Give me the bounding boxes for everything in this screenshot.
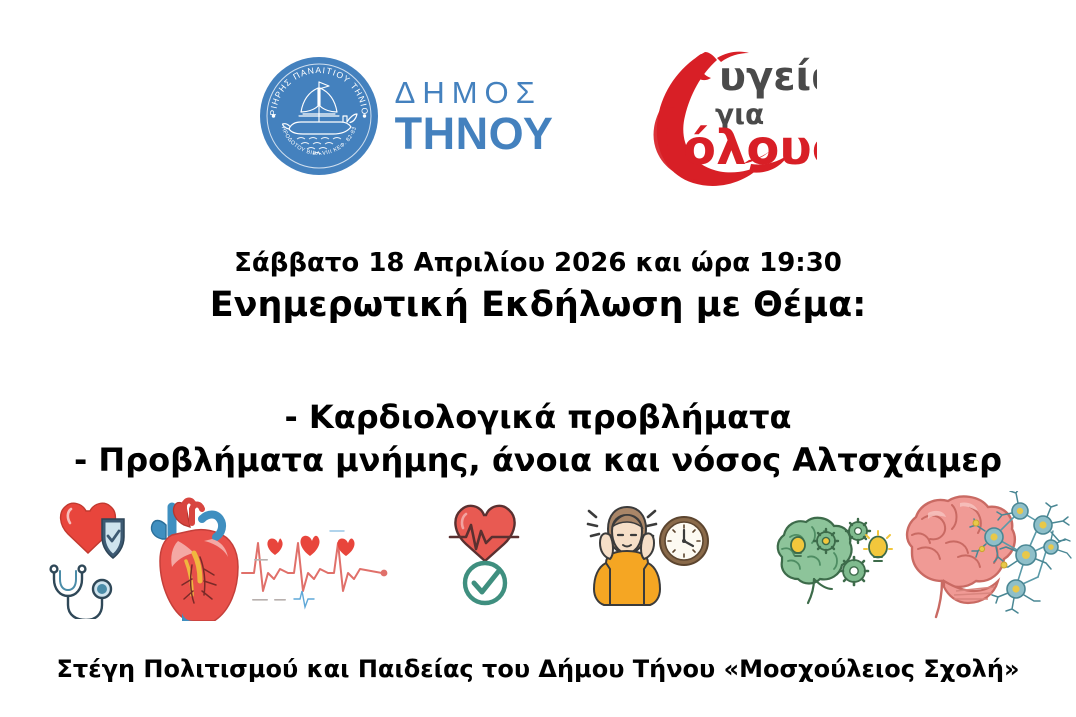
lightbulb-icon bbox=[864, 531, 892, 561]
event-datetime: Σάββατο 18 Απριλίου 2026 και ώρα 19:30 bbox=[0, 248, 1076, 278]
green-brain bbox=[778, 518, 852, 603]
ecg-tick-labels bbox=[252, 559, 286, 601]
blue-shield-with-check bbox=[102, 519, 124, 558]
municipality-wordmark: ΔΗΜΟΣ ΤΗΝΟΥ bbox=[395, 77, 554, 156]
topics-list: - Καρδιολογικά προβλήματα - Προβλήματα μ… bbox=[0, 396, 1076, 482]
anatomical-heart bbox=[151, 501, 238, 622]
page-title: Ενημερωτική Εκδήλωση με Θέμα: bbox=[0, 285, 1076, 325]
anatomical-heart-ecg-icon bbox=[142, 495, 397, 621]
red-heart-with-pulse bbox=[450, 506, 518, 561]
heartbeat-check-icon bbox=[440, 497, 530, 607]
icon-strip bbox=[0, 487, 1076, 622]
municipality-of-tinos-logo: ΤΡΙΗΡΗΣ ΠΑΝΑΙΤΙΟΥ ΤΗΝΙΟΥ ΗΡΟΔΟΤΟΥ ΒΙΒΛ.V… bbox=[259, 56, 554, 176]
small-hearts bbox=[267, 536, 354, 556]
municipality-wordmark-line2: ΤΗΝΟΥ bbox=[395, 111, 554, 156]
green-circled-checkmark bbox=[465, 563, 505, 603]
headache-memory-clock-icon bbox=[586, 499, 711, 611]
poster-canvas: ΤΡΙΗΡΗΣ ΠΑΝΑΙΤΙΟΥ ΤΗΝΙΟΥ ΗΡΟΔΟΤΟΥ ΒΙΒΛ.V… bbox=[0, 0, 1076, 717]
ygeia-gia-olous-logo: υγεία για όλους bbox=[631, 42, 817, 190]
brain-neurons-icon bbox=[898, 491, 1073, 619]
venue-text: Στέγη Πολιτισμού και Παιδείας του Δήμου … bbox=[0, 655, 1076, 683]
health-logo-word-ygeia: υγεία bbox=[719, 54, 817, 100]
health-logo-word-olous: όλους bbox=[683, 120, 817, 176]
topic-item: - Προβλήματα μνήμης, άνοια και νόσος Αλτ… bbox=[0, 439, 1076, 482]
wall-clock bbox=[660, 517, 708, 565]
brain-gears-lightbulb-icon bbox=[768, 509, 893, 609]
topic-item: - Καρδιολογικά προβλήματα bbox=[0, 396, 1076, 439]
heart-shield-stethoscope-icon bbox=[38, 493, 150, 619]
person-holding-head bbox=[594, 507, 660, 605]
trireme-seal: ΤΡΙΗΡΗΣ ΠΑΝΑΙΤΙΟΥ ΤΗΝΙΟΥ ΗΡΟΔΟΤΟΥ ΒΙΒΛ.V… bbox=[259, 56, 379, 176]
stethoscope bbox=[51, 566, 111, 619]
logo-band: ΤΡΙΗΡΗΣ ΠΑΝΑΙΤΙΟΥ ΤΗΝΙΟΥ ΗΡΟΔΟΤΟΥ ΒΙΒΛ.V… bbox=[0, 36, 1076, 196]
gear-in-brain bbox=[814, 529, 838, 553]
gear-bottom-right bbox=[840, 557, 868, 585]
municipality-wordmark-line1: ΔΗΜΟΣ bbox=[395, 77, 554, 108]
gear-top-right bbox=[846, 519, 870, 543]
